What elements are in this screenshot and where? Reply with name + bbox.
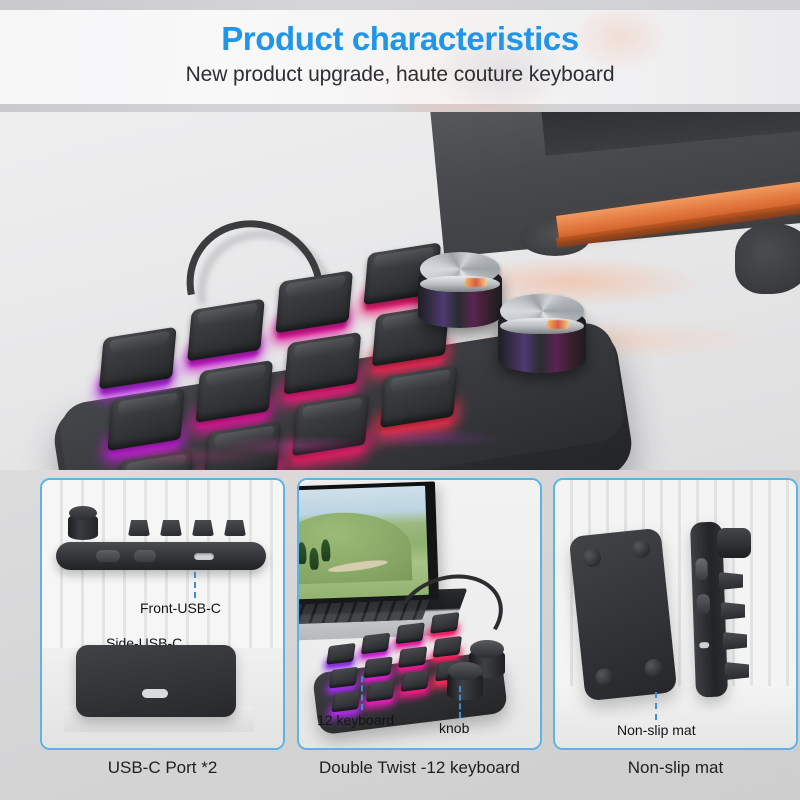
side-profile-knob (717, 528, 751, 558)
keycap (331, 691, 361, 715)
side-usb-c-port (142, 689, 168, 698)
mini-keycap (160, 520, 182, 536)
annotation-12-keyboard: 12 keyboard (317, 712, 394, 728)
mini-knob (68, 506, 98, 540)
side-button (134, 550, 156, 562)
usb-c-port (699, 642, 709, 648)
non-slip-foot (644, 658, 664, 678)
desk-rgb-reflection (0, 412, 800, 470)
keyboard-underside (569, 528, 678, 702)
mini-keycap (192, 520, 214, 536)
side-keycap (721, 602, 745, 620)
hero-product-photo (0, 112, 800, 470)
keycap (398, 646, 428, 670)
keycap (361, 633, 391, 657)
product-feature-page: Product characteristics New product upgr… (0, 0, 800, 800)
macropad-knob-front (447, 662, 483, 700)
keycap (326, 643, 356, 667)
rotary-knob-left (418, 252, 502, 336)
page-header: Product characteristics New product upgr… (0, 0, 800, 112)
annotation-front-usb-c: Front-USB-C (140, 600, 221, 616)
feature-panel-row: Front-USB-C Side-USB-C USB-C Port *2 (0, 470, 800, 800)
page-subtitle: New product upgrade, haute couture keybo… (0, 63, 800, 87)
keycap (395, 622, 425, 646)
keycap (430, 612, 460, 636)
panel-caption-mat: Non-slip mat (553, 758, 798, 778)
panel-caption-usb-c: USB-C Port *2 (40, 758, 285, 778)
keycap (366, 680, 396, 704)
keycap (187, 298, 265, 365)
feature-panel-mat[interactable]: Non-slip mat Non-slip mat (553, 478, 798, 796)
mini-keycap (224, 520, 246, 536)
keycap (400, 670, 430, 694)
side-switch (96, 550, 120, 562)
panel-image-keyboard: 12 keyboard knob (297, 478, 542, 750)
keyboard-front-edge (56, 542, 266, 570)
annotation-knob: knob (439, 720, 469, 736)
feature-panel-usb-c[interactable]: Front-USB-C Side-USB-C USB-C Port *2 (40, 478, 285, 796)
side-button (696, 594, 710, 614)
leader-line-knob (459, 686, 461, 718)
mini-keycap (128, 520, 150, 536)
feature-panel-keyboard[interactable]: 12 keyboard knob Double Twist -12 keyboa… (297, 478, 542, 796)
panel-image-usb-c: Front-USB-C Side-USB-C (40, 478, 285, 750)
keycap (283, 332, 361, 399)
side-switch (695, 558, 708, 580)
page-title: Product characteristics (0, 20, 800, 58)
panel-caption-keyboard: Double Twist -12 keyboard (297, 758, 542, 778)
non-slip-foot (631, 539, 651, 559)
non-slip-foot (582, 548, 602, 568)
keyboard-top-view (76, 645, 236, 717)
leader-line-front-usb-c (194, 572, 196, 598)
keycap (275, 270, 353, 337)
front-usb-c-port (194, 553, 214, 560)
wallpaper-landscape (297, 486, 429, 600)
non-slip-foot (595, 667, 615, 687)
leader-line-non-slip-mat (655, 692, 657, 720)
keycap (363, 656, 393, 680)
leader-line-12-keyboard (361, 676, 363, 710)
side-keycap (719, 572, 743, 590)
annotation-non-slip-mat: Non-slip mat (617, 722, 696, 738)
rotary-knob-right (498, 294, 586, 382)
panel-image-mat: Non-slip mat (553, 478, 798, 750)
keycap (329, 667, 359, 691)
keycap (99, 327, 177, 394)
header-text-block: Product characteristics New product upgr… (0, 0, 800, 112)
side-keycap (725, 662, 749, 680)
side-keycap (723, 632, 747, 650)
keycap (432, 636, 462, 660)
